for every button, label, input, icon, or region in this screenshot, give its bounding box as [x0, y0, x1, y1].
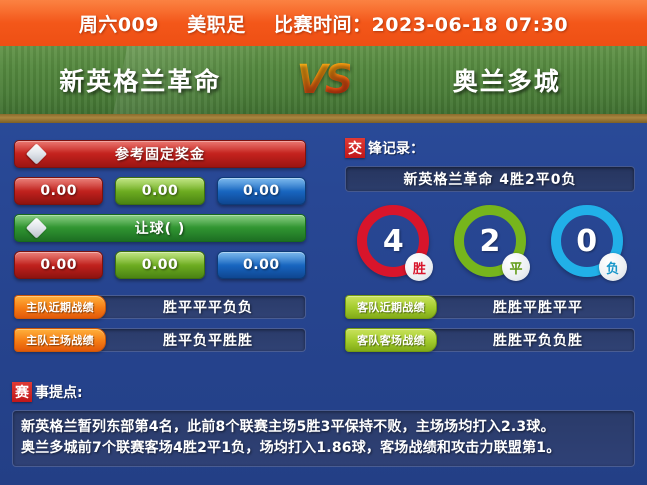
home-team-name: 新英格兰革命	[0, 62, 281, 98]
match-header-bar: 周六009 美职足 比赛时间：2023-06-18 07:30	[0, 0, 647, 46]
h2h-summary-text: 新英格兰革命 4胜2平0负	[403, 169, 576, 189]
home-home-form-value: 胜平负平胜胜	[163, 330, 253, 350]
fixed-odds-row: 0.00 0.00 0.00	[14, 177, 306, 205]
odds-panel: 参考固定奖金 0.00 0.00 0.00 让球( ) 0.00 0.00 0.…	[14, 140, 306, 361]
match-number: 周六009	[79, 14, 159, 36]
home-recent-form-value: 胜平平平负负	[163, 297, 253, 317]
analysis-tag-rest: 事提点:	[35, 382, 83, 402]
home-recent-form-value-box: 胜平平平负负	[96, 295, 306, 319]
league-name: 美职足	[187, 14, 246, 36]
handicap-odds-away[interactable]: 0.00	[217, 251, 306, 279]
analysis-line-1: 新英格兰暂列东部第4名，此前8个联赛主场5胜3平保持不败，主场场均打入2.3球。	[21, 417, 626, 438]
away-recent-form-value: 胜胜平胜平平	[493, 297, 583, 317]
fixed-odds-draw[interactable]: 0.00	[115, 177, 204, 205]
dirt-strip	[0, 114, 647, 123]
fixed-odds-draw-value: 0.00	[142, 183, 179, 199]
away-team-name: 奥兰多城	[367, 62, 647, 98]
analysis-section: 赛 事提点: 新英格兰暂列东部第4名，此前8个联赛主场5胜3平保持不败，主场场均…	[12, 382, 635, 467]
diamond-icon	[26, 143, 47, 164]
form-row: 客队客场战绩 胜胜平负负胜	[345, 328, 635, 352]
fixed-odds-home-value: 0.00	[40, 183, 77, 199]
fixed-odds-away-value: 0.00	[243, 183, 280, 199]
h2h-summary-box: 新英格兰革命 4胜2平0负	[345, 166, 635, 192]
diamond-icon	[26, 217, 47, 238]
h2h-draw-count: 2	[480, 224, 501, 259]
handicap-header: 让球( )	[14, 214, 306, 242]
analysis-box: 新英格兰暂列东部第4名，此前8个联赛主场5胜3平保持不败，主场场均打入2.3球。…	[12, 410, 635, 467]
away-recent-form-value-box: 胜胜平胜平平	[427, 295, 635, 319]
match-header-text: 周六009 美职足 比赛时间：2023-06-18 07:30	[79, 10, 568, 37]
h2h-ring-loss: 0 负	[551, 205, 623, 277]
home-form-group: 主队近期战绩 胜平平平负负 主队主场战绩 胜平负平胜胜	[14, 295, 306, 352]
form-row: 主队近期战绩 胜平平平负负	[14, 295, 306, 319]
h2h-heading: 交 锋记录：	[345, 138, 635, 158]
handicap-odds-away-value: 0.00	[243, 257, 280, 273]
fixed-prize-title: 参考固定奖金	[115, 144, 205, 164]
handicap-odds-draw[interactable]: 0.00	[115, 251, 204, 279]
fixed-odds-home[interactable]: 0.00	[14, 177, 103, 205]
h2h-tag-char: 交	[345, 138, 365, 158]
h2h-tag-rest: 锋记录：	[368, 138, 424, 158]
home-home-form-value-box: 胜平负平胜胜	[96, 328, 306, 352]
away-away-form-value-box: 胜胜平负负胜	[427, 328, 635, 352]
matchup-row: 新英格兰革命 VS 奥兰多城	[0, 46, 647, 114]
vs-logo: VS	[281, 57, 367, 103]
analysis-heading: 赛 事提点:	[12, 382, 635, 402]
h2h-draw-badge: 平	[502, 253, 530, 281]
h2h-win-count: 4	[383, 224, 404, 259]
home-recent-form-label: 主队近期战绩	[14, 295, 106, 319]
away-away-form-label: 客队客场战绩	[345, 328, 437, 352]
away-form-group: 客队近期战绩 胜胜平胜平平 客队客场战绩 胜胜平负负胜	[345, 295, 635, 352]
handicap-odds-home-value: 0.00	[40, 257, 77, 273]
h2h-ring-win: 4 胜	[357, 205, 429, 277]
h2h-ring-draw: 2 平	[454, 205, 526, 277]
away-recent-form-label: 客队近期战绩	[345, 295, 437, 319]
match-time: 比赛时间：2023-06-18 07:30	[274, 14, 568, 36]
fixed-prize-header: 参考固定奖金	[14, 140, 306, 168]
form-row: 主队主场战绩 胜平负平胜胜	[14, 328, 306, 352]
h2h-loss-badge: 负	[599, 253, 627, 281]
handicap-odds-row: 0.00 0.00 0.00	[14, 251, 306, 279]
form-row: 客队近期战绩 胜胜平胜平平	[345, 295, 635, 319]
h2h-panel: 交 锋记录： 新英格兰革命 4胜2平0负 4 胜 2 平 0 负 客队近期战绩	[345, 138, 635, 361]
handicap-title: 让球( )	[135, 218, 186, 238]
fixed-odds-away[interactable]: 0.00	[217, 177, 306, 205]
analysis-tag-char: 赛	[12, 382, 32, 402]
h2h-rings: 4 胜 2 平 0 负	[345, 205, 635, 277]
home-home-form-label: 主队主场战绩	[14, 328, 106, 352]
vs-icon: VS	[297, 57, 351, 103]
handicap-odds-home[interactable]: 0.00	[14, 251, 103, 279]
handicap-odds-draw-value: 0.00	[142, 257, 179, 273]
away-away-form-value: 胜胜平负负胜	[493, 330, 583, 350]
analysis-line-2: 奥兰多城前7个联赛客场4胜2平1负，场均打入1.86球，客场战绩和攻击力联盟第1…	[21, 438, 626, 459]
h2h-win-badge: 胜	[405, 253, 433, 281]
h2h-loss-count: 0	[576, 224, 597, 259]
